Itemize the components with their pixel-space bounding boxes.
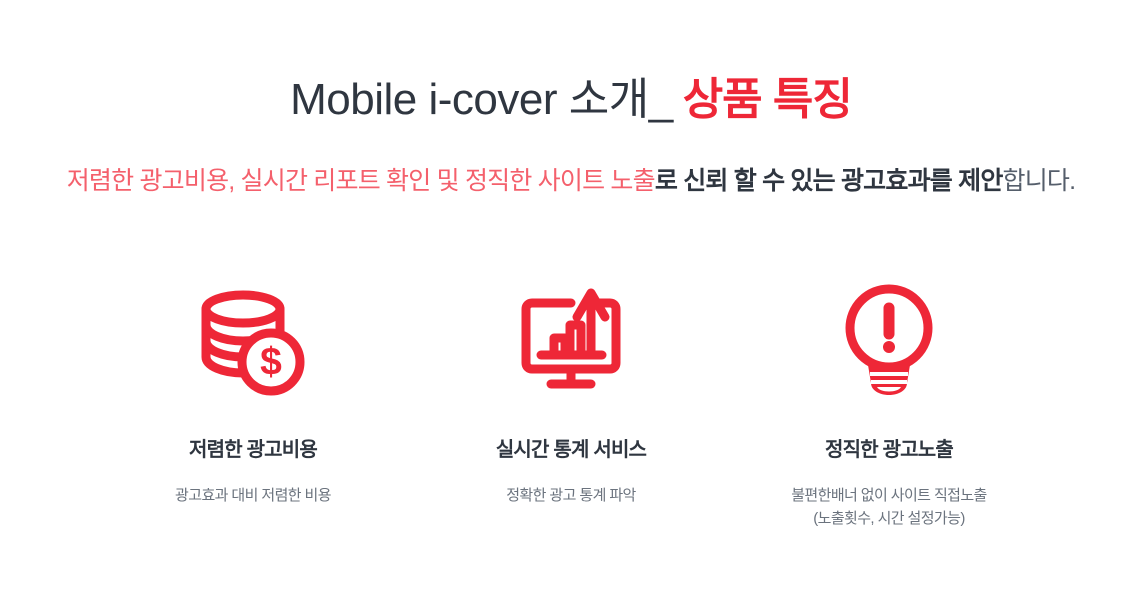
subtitle-tail: 합니다. xyxy=(1003,167,1076,195)
feature-title: 정직한 광고노출 xyxy=(825,438,953,462)
page-title-accent: 상품 특징 xyxy=(683,75,852,124)
feature-description-line1: 광고효과 대비 저렴한 비용 xyxy=(175,487,331,504)
product-feature-banner: Mobile i-cover 소개_상품 특징 저렴한 광고비용, 실시간 리포… xyxy=(0,0,1142,603)
feature-item-cost: $ 저렴한 광고비용 광고효과 대비 저렴한 비용 xyxy=(94,280,412,507)
feature-description: 정확한 광고 통계 파악 xyxy=(506,484,636,507)
feature-description: 광고효과 대비 저렴한 비용 xyxy=(175,484,331,507)
feature-item-statistics: 실시간 통계 서비스 정확한 광고 통계 파악 xyxy=(412,280,730,507)
subtitle-strong: 로 신뢰 할 수 있는 광고효과를 제안 xyxy=(655,167,1003,195)
feature-list: $ 저렴한 광고비용 광고효과 대비 저렴한 비용 xyxy=(0,280,1142,531)
lightbulb-exclamation-icon xyxy=(828,280,950,400)
feature-item-exposure: 정직한 광고노출 불편한배너 없이 사이트 직접노출 (노출횟수, 시간 설정가… xyxy=(730,280,1048,531)
subtitle-highlight: 저렴한 광고비용, 실시간 리포트 확인 및 정직한 사이트 노출 xyxy=(67,167,655,195)
coins-dollar-icon: $ xyxy=(192,280,314,400)
svg-text:$: $ xyxy=(260,341,282,384)
page-title-main: Mobile i-cover 소개_ xyxy=(290,75,673,124)
monitor-bar-chart-arrow-icon xyxy=(510,280,632,400)
feature-title: 실시간 통계 서비스 xyxy=(496,438,646,462)
feature-description: 불편한배너 없이 사이트 직접노출 (노출횟수, 시간 설정가능) xyxy=(791,484,987,531)
page-subtitle: 저렴한 광고비용, 실시간 리포트 확인 및 정직한 사이트 노출로 신뢰 할 … xyxy=(0,166,1142,196)
page-title: Mobile i-cover 소개_상품 특징 xyxy=(0,78,1142,122)
feature-title: 저렴한 광고비용 xyxy=(189,438,317,462)
feature-description-line1: 정확한 광고 통계 파악 xyxy=(506,487,636,504)
feature-description-line2: (노출횟수, 시간 설정가능) xyxy=(791,507,987,530)
feature-description-line1: 불편한배너 없이 사이트 직접노출 xyxy=(791,487,987,504)
